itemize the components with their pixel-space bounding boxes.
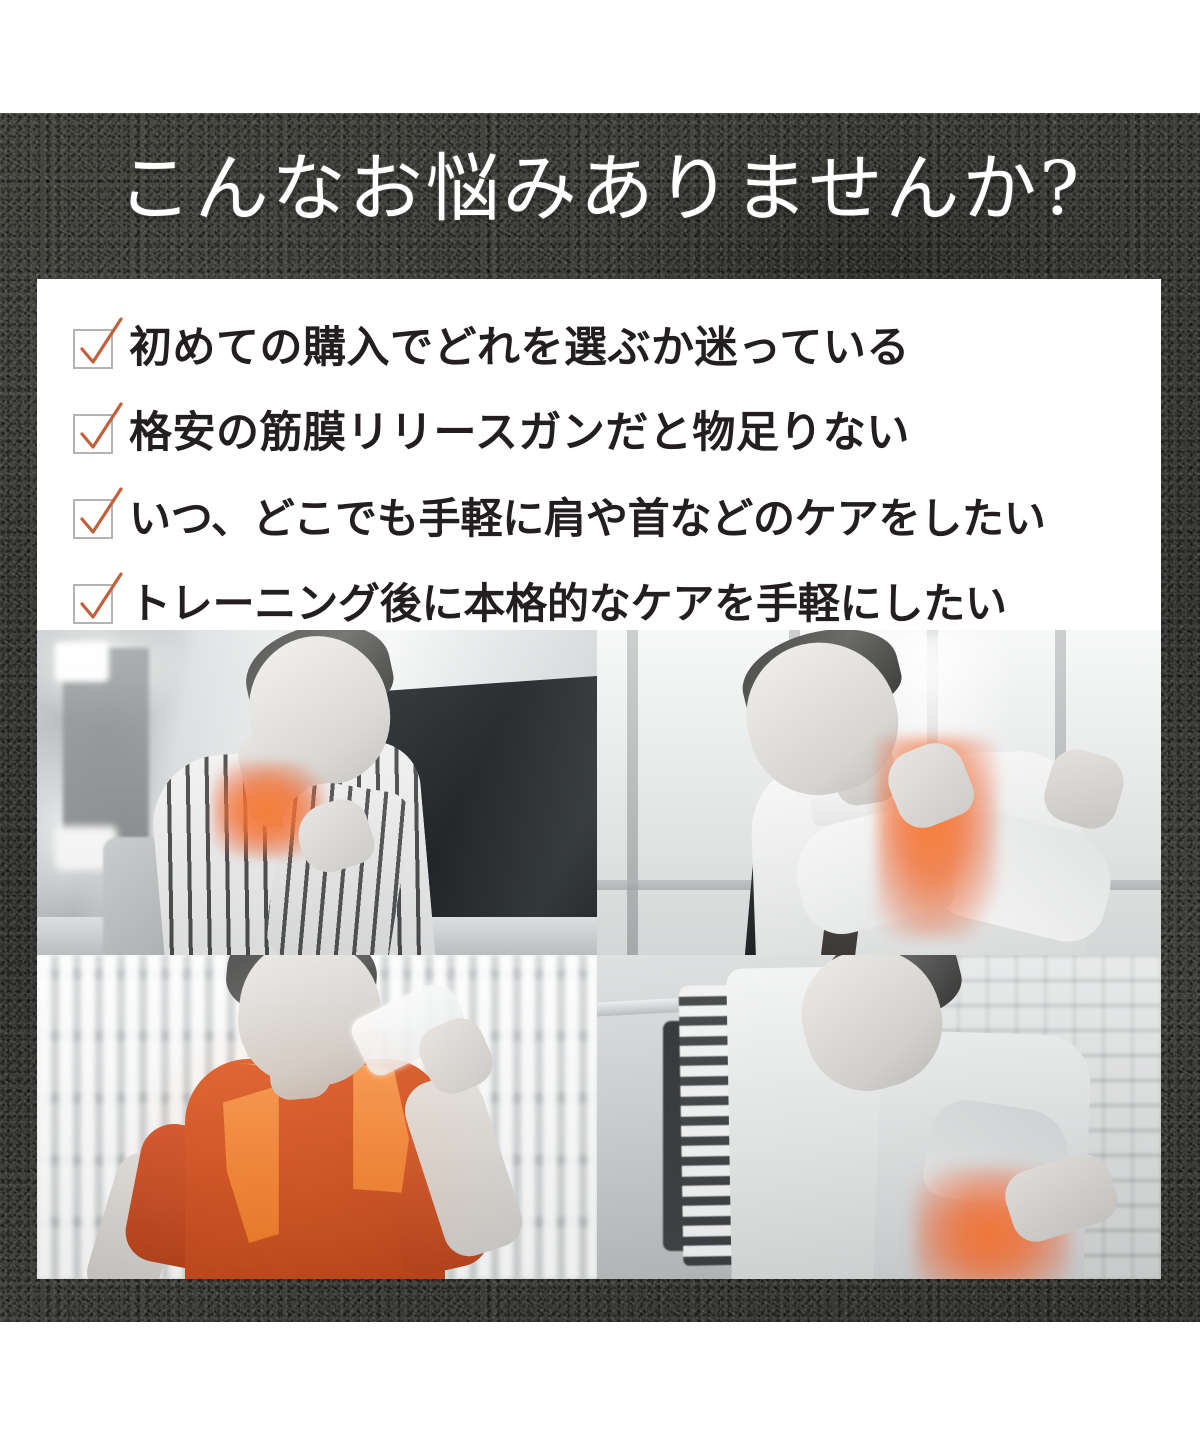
list-item[interactable]: 初めての購入でどれを選ぶか迷っている bbox=[37, 306, 1161, 391]
pain-photo-grid bbox=[37, 630, 1161, 1279]
check-icon[interactable] bbox=[73, 499, 113, 539]
window-frame bbox=[627, 630, 638, 955]
photo-athlete-hydrating bbox=[37, 955, 597, 1279]
list-item[interactable]: 格安の筋膜リリースガンだと物足りない bbox=[37, 391, 1161, 476]
promo-panel: こんなお悩みありませんか? 初めての購入でどれを選ぶか迷っている 格安の筋 bbox=[0, 0, 1200, 1440]
check-icon[interactable] bbox=[73, 584, 113, 624]
page-title: こんなお悩みありませんか? bbox=[0, 152, 1200, 226]
concerns-checklist: 初めての購入でどれを選ぶか迷っている 格安の筋膜リリースガンだと物足りない いつ… bbox=[37, 279, 1161, 646]
photo-office-woman-neck-pain bbox=[37, 630, 597, 955]
warm-color-wash bbox=[37, 955, 597, 1279]
check-icon[interactable] bbox=[73, 414, 113, 454]
list-item-label: 初めての購入でどれを選ぶか迷っている bbox=[129, 327, 910, 370]
window-light bbox=[55, 642, 109, 682]
list-item-label: トレーニング後に本格的なケアを手軽にしたい bbox=[129, 583, 1007, 625]
list-item[interactable]: いつ、どこでも手軽に肩や首などのケアをしたい bbox=[37, 476, 1161, 561]
list-item-label: いつ、どこでも手軽に肩や首などのケアをしたい bbox=[129, 498, 1046, 540]
photo-laundry-woman-back-pain bbox=[597, 955, 1161, 1279]
photo-businessman-shoulder-pain bbox=[597, 630, 1161, 955]
check-icon[interactable] bbox=[73, 329, 113, 369]
list-item-label: 格安の筋膜リリースガンだと物足りない bbox=[129, 412, 910, 455]
content-card: 初めての購入でどれを選ぶか迷っている 格安の筋膜リリースガンだと物足りない いつ… bbox=[37, 279, 1161, 1279]
